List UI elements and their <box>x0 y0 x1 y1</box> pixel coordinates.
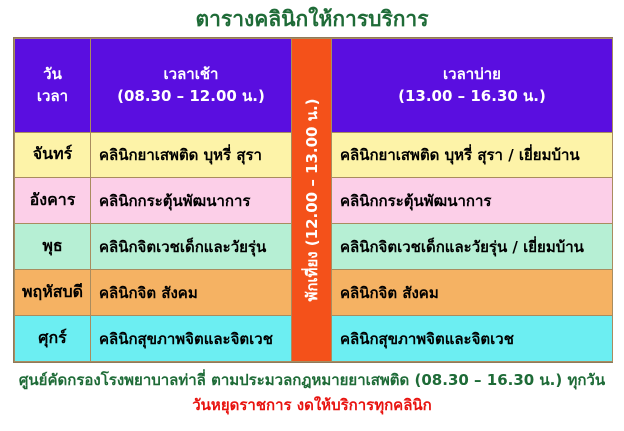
morning-clinic-cell: คลินิกจิต สังคม <box>91 270 292 316</box>
header-afternoon-range: (13.00 – 16.30 น.) <box>334 85 610 107</box>
morning-clinic-cell: คลินิกยาเสพติด บุหรี่ สุรา <box>91 132 292 178</box>
day-cell: อังคาร <box>15 178 91 224</box>
page-title: ตารางคลินิกให้การบริการ <box>0 6 624 32</box>
header-day-label: วัน <box>17 63 88 85</box>
header-afternoon: เวลาบ่าย (13.00 – 16.30 น.) <box>332 39 613 133</box>
morning-clinic-cell: คลินิกสุขภาพจิตและจิตเวช <box>91 316 292 362</box>
afternoon-clinic-cell: คลินิกสุขภาพจิตและจิตเวช <box>332 316 613 362</box>
footer-notes: ศูนย์คัดกรองโรงพยาบาลท่าลี่ ตามประมวลกฎห… <box>0 368 624 418</box>
morning-clinic-cell: คลินิกจิตเวชเด็กและวัยรุ่น <box>91 224 292 270</box>
afternoon-clinic-cell: คลินิกยาเสพติด บุหรี่ สุรา / เยี่ยมบ้าน <box>332 132 613 178</box>
header-morning-title: เวลาเช้า <box>93 63 289 85</box>
header-morning-range: (08.30 – 12.00 น.) <box>93 85 289 107</box>
lunch-break-label: พักเที่ยง (12.00 – 13.00 น.) <box>300 98 324 301</box>
schedule-page: ตารางคลินิกให้การบริการ วัน เวลา เวลาเช้… <box>0 0 624 431</box>
table-header-row: วัน เวลา เวลาเช้า (08.30 – 12.00 น.) พัก… <box>15 39 613 133</box>
header-time-label: เวลา <box>17 85 88 107</box>
afternoon-clinic-cell: คลินิกกระตุ้นพัฒนาการ <box>332 178 613 224</box>
header-morning: เวลาเช้า (08.30 – 12.00 น.) <box>91 39 292 133</box>
afternoon-clinic-cell: คลินิกจิต สังคม <box>332 270 613 316</box>
footer-holiday-note: วันหยุดราชการ งดให้บริการทุกคลินิก <box>0 392 624 418</box>
schedule-table-container: วัน เวลา เวลาเช้า (08.30 – 12.00 น.) พัก… <box>13 37 613 363</box>
footer-screening-center-note: ศูนย์คัดกรองโรงพยาบาลท่าลี่ ตามประมวลกฎห… <box>0 368 624 392</box>
day-cell: จันทร์ <box>15 132 91 178</box>
day-cell: ศุกร์ <box>15 316 91 362</box>
header-afternoon-title: เวลาบ่าย <box>334 63 610 85</box>
schedule-table: วัน เวลา เวลาเช้า (08.30 – 12.00 น.) พัก… <box>14 38 613 362</box>
lunch-break-column: พักเที่ยง (12.00 – 13.00 น.) <box>292 39 332 362</box>
day-cell: พุธ <box>15 224 91 270</box>
morning-clinic-cell: คลินิกกระตุ้นพัฒนาการ <box>91 178 292 224</box>
header-day-time: วัน เวลา <box>15 39 91 133</box>
afternoon-clinic-cell: คลินิกจิตเวชเด็กและวัยรุ่น / เยี่ยมบ้าน <box>332 224 613 270</box>
day-cell: พฤหัสบดี <box>15 270 91 316</box>
